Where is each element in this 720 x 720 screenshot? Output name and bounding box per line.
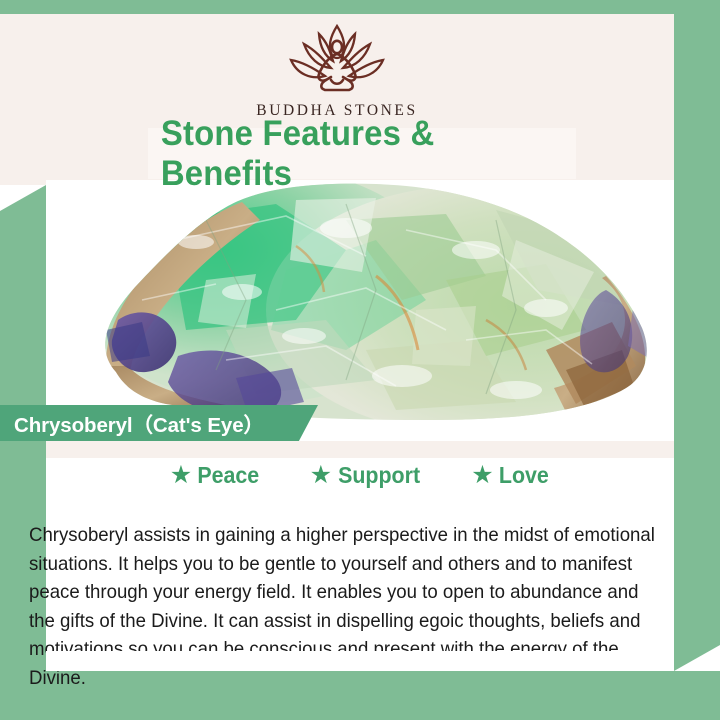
stone-name: Chrysoberyl（Cat's Eye）: [0, 408, 264, 438]
star-icon: ★: [310, 463, 332, 488]
page-title: Stone Features & Benefits: [161, 114, 563, 194]
benefit-label: Love: [499, 462, 549, 489]
brand-logo: BUDDHA STONES: [0, 20, 674, 120]
frame-notch-top-left: [0, 185, 46, 211]
benefit-item-support: ★ Support: [310, 462, 424, 489]
frame-band-right: [674, 14, 720, 671]
product-info-card: BUDDHA STONES Stone Features & Benefits: [0, 0, 720, 720]
star-icon: ★: [170, 463, 192, 488]
benefit-label: Peace: [197, 462, 259, 489]
frame-band-top: [0, 0, 720, 14]
benefit-item-love: ★ Love: [471, 462, 550, 489]
stone-photo: [46, 180, 674, 424]
stone-name-banner: Chrysoberyl（Cat's Eye）: [0, 405, 318, 441]
benefit-item-peace: ★ Peace: [170, 462, 262, 489]
benefit-label: Support: [338, 462, 420, 489]
bottom-spacer: [46, 651, 674, 671]
star-icon: ★: [471, 463, 493, 488]
lotus-meditation-icon: [283, 20, 391, 100]
cream-divider-strip: [46, 441, 674, 458]
title-banner: Stone Features & Benefits: [148, 128, 576, 179]
frame-notch-bottom-right: [674, 645, 720, 671]
benefits-row: ★ Peace ★ Support ★ Love: [46, 462, 674, 489]
chrysoberyl-crystal-image: [46, 180, 674, 424]
